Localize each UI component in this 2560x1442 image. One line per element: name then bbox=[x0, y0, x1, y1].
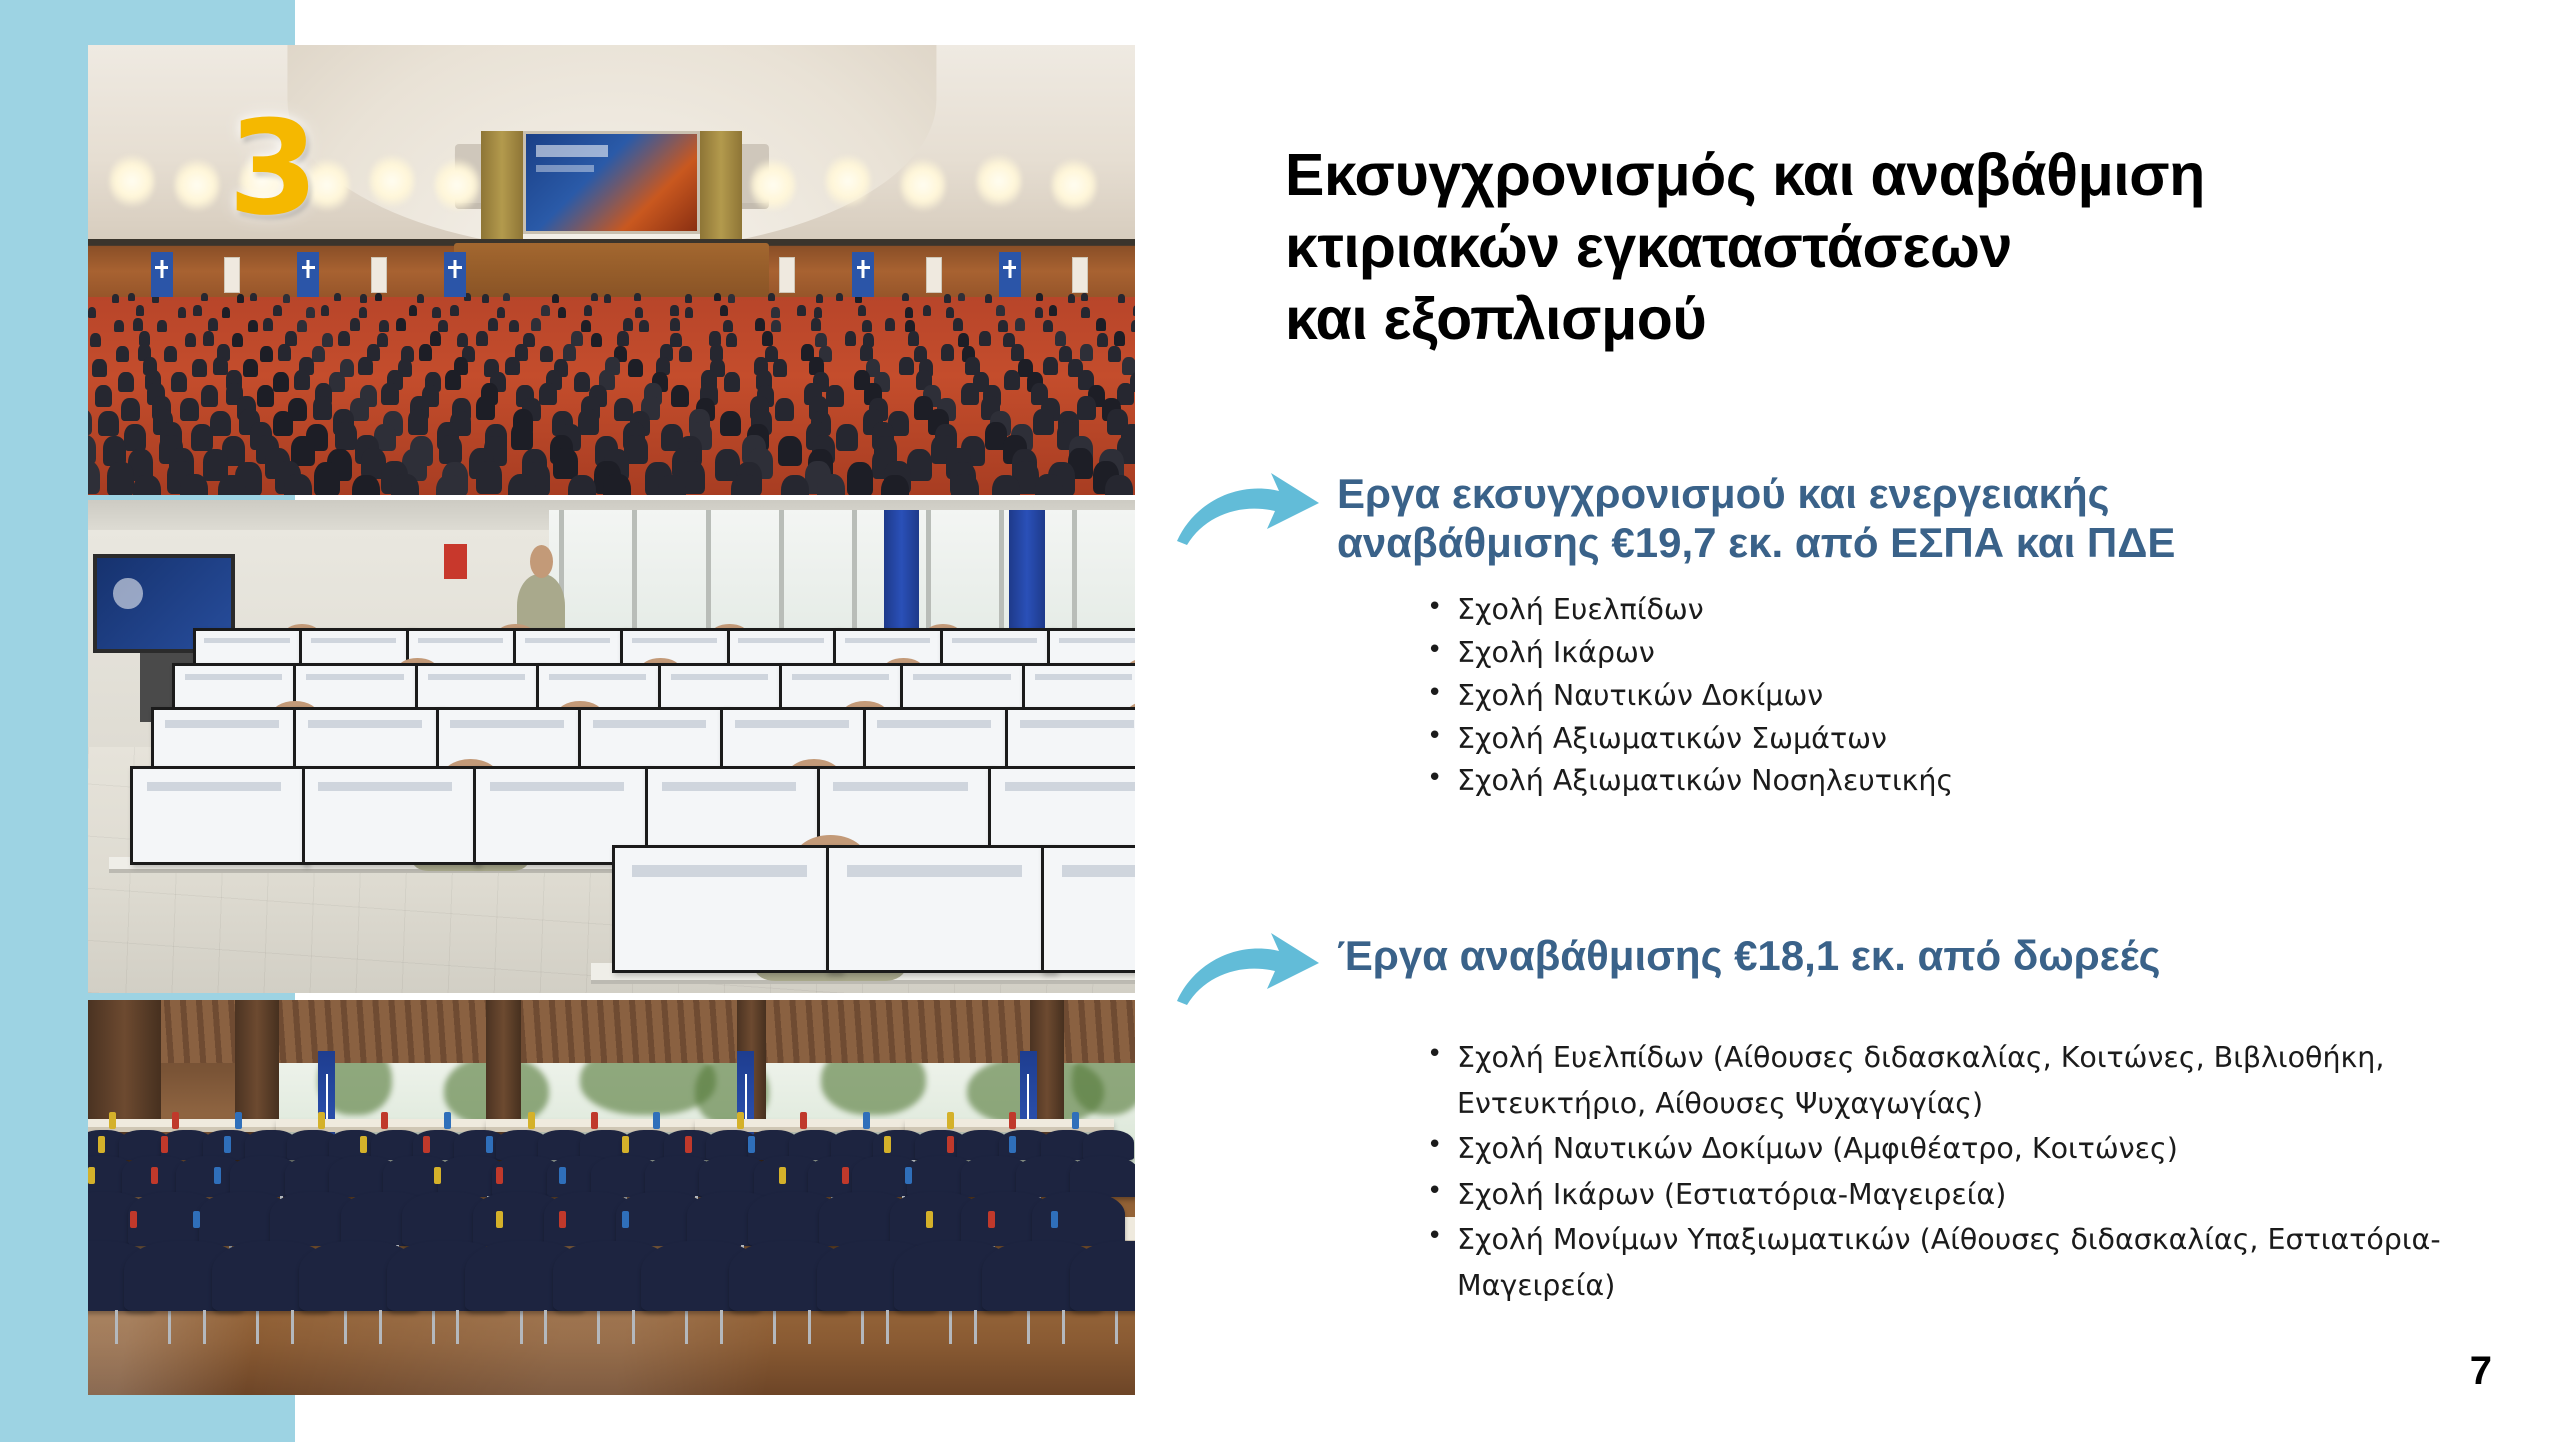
slide-root: 3 Εκσυγχρονισ bbox=[0, 0, 2560, 1442]
list-item: Σχολή Ευελπίδων (Αίθουσες διδασκαλίας, Κ… bbox=[1423, 1035, 2485, 1126]
list-item: Σχολή Ναυτικών Δοκίμων (Αμφιθέατρο, Κοιτ… bbox=[1423, 1126, 2485, 1172]
section-2-bullet-list: Σχολή Ευελπίδων (Αίθουσες διδασκαλίας, Κ… bbox=[1175, 1035, 2485, 1309]
section-donations: Έργα αναβάθμισης €18,1 εκ. από δωρεές Σχ… bbox=[1175, 925, 2485, 1309]
list-item: Σχολή Ναυτικών Δοκίμων bbox=[1423, 675, 2485, 718]
section-1-heading: Εργα εκσυγχρονισμού και ενεργειακής αναβ… bbox=[1337, 465, 2175, 567]
list-item: Σχολή Αξιωματικών Σωμάτων bbox=[1423, 718, 2485, 761]
section-espa-pde: Εργα εκσυγχρονισμού και ενεργειακής αναβ… bbox=[1175, 465, 2485, 803]
computer-lab-photo bbox=[88, 500, 1135, 993]
list-item: Σχολή Αξιωματικών Νοσηλευτικής bbox=[1423, 760, 2485, 803]
list-item: Σχολή Ικάρων bbox=[1423, 632, 2485, 675]
title-line-3: και εξοπλισμού bbox=[1285, 284, 2465, 356]
list-item: Σχολή Ικάρων (Εστιατόρια-Μαγειρεία) bbox=[1423, 1172, 2485, 1218]
section-2-heading: Έργα αναβάθμισης €18,1 εκ. από δωρεές bbox=[1337, 925, 2161, 980]
curved-arrow-icon bbox=[1175, 927, 1323, 1009]
title-line-1: Εκσυγχρονισμός και αναβάθμιση bbox=[1285, 140, 2465, 212]
section-2-header: Έργα αναβάθμισης €18,1 εκ. από δωρεές bbox=[1175, 925, 2485, 1009]
section-1-heading-line-1: Εργα εκσυγχρονισμού και ενεργειακής bbox=[1337, 470, 2109, 517]
list-item: Σχολή Ευελπίδων bbox=[1423, 589, 2485, 632]
title-line-2: κτιριακών εγκαταστάσεων bbox=[1285, 212, 2465, 284]
curved-arrow-icon bbox=[1175, 467, 1323, 549]
page-number: 7 bbox=[2470, 1349, 2492, 1394]
page-title: Εκσυγχρονισμός και αναβάθμιση κτιριακών … bbox=[1285, 140, 2465, 356]
list-item: Σχολή Μονίμων Υπαξιωματικών (Αίθουσες δι… bbox=[1423, 1217, 2485, 1308]
section-1-header: Εργα εκσυγχρονισμού και ενεργειακής αναβ… bbox=[1175, 465, 2485, 567]
section-1-heading-line-2: αναβάθμισης €19,7 εκ. από ΕΣΠΑ και ΠΔΕ bbox=[1337, 519, 2175, 566]
section-1-bullet-list: Σχολή Ευελπίδων Σχολή Ικάρων Σχολή Ναυτι… bbox=[1175, 589, 2485, 803]
auditorium-photo: 3 bbox=[88, 45, 1135, 495]
dining-hall-photo bbox=[88, 1000, 1135, 1395]
section-number-badge: 3 bbox=[228, 103, 318, 233]
